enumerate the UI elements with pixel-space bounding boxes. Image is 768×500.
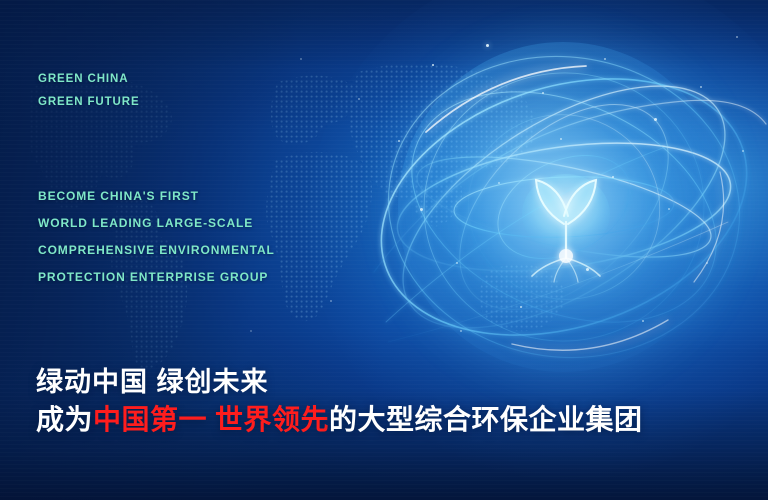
english-mission-line-3: COMPREHENSIVE ENVIRONMENTAL: [38, 237, 368, 264]
english-tagline-line-1: GREEN CHINA: [38, 68, 338, 91]
chinese-tagline: 绿动中国 绿创未来: [36, 364, 643, 400]
english-mission-line-2: WORLD LEADING LARGE-SCALE: [38, 210, 368, 237]
sprout-leaf-emblem: [506, 162, 626, 292]
chinese-headline-block: 绿动中国 绿创未来 成为中国第一世界领先的大型综合环保企业集团: [36, 364, 643, 440]
chinese-headline: 成为中国第一世界领先的大型综合环保企业集团: [36, 400, 643, 440]
chinese-headline-prefix: 成为: [36, 404, 93, 435]
chinese-headline-accent-2: 世界领先: [215, 404, 329, 435]
english-mission-block: BECOME CHINA'S FIRST WORLD LEADING LARGE…: [38, 183, 368, 291]
english-tagline-block: GREEN CHINA GREEN FUTURE: [38, 68, 338, 114]
glowing-wireframe-globe: [368, 22, 768, 422]
english-mission-line-1: BECOME CHINA'S FIRST: [38, 183, 368, 210]
english-mission-line-4: PROTECTION ENTERPRISE GROUP: [38, 264, 368, 291]
chinese-headline-accent-1: 中国第一: [93, 404, 207, 435]
chinese-headline-suffix: 的大型综合环保企业集团: [329, 404, 643, 435]
english-tagline-line-2: GREEN FUTURE: [38, 91, 338, 114]
banner-image: GREEN CHINA GREEN FUTURE BECOME CHINA'S …: [0, 0, 768, 500]
